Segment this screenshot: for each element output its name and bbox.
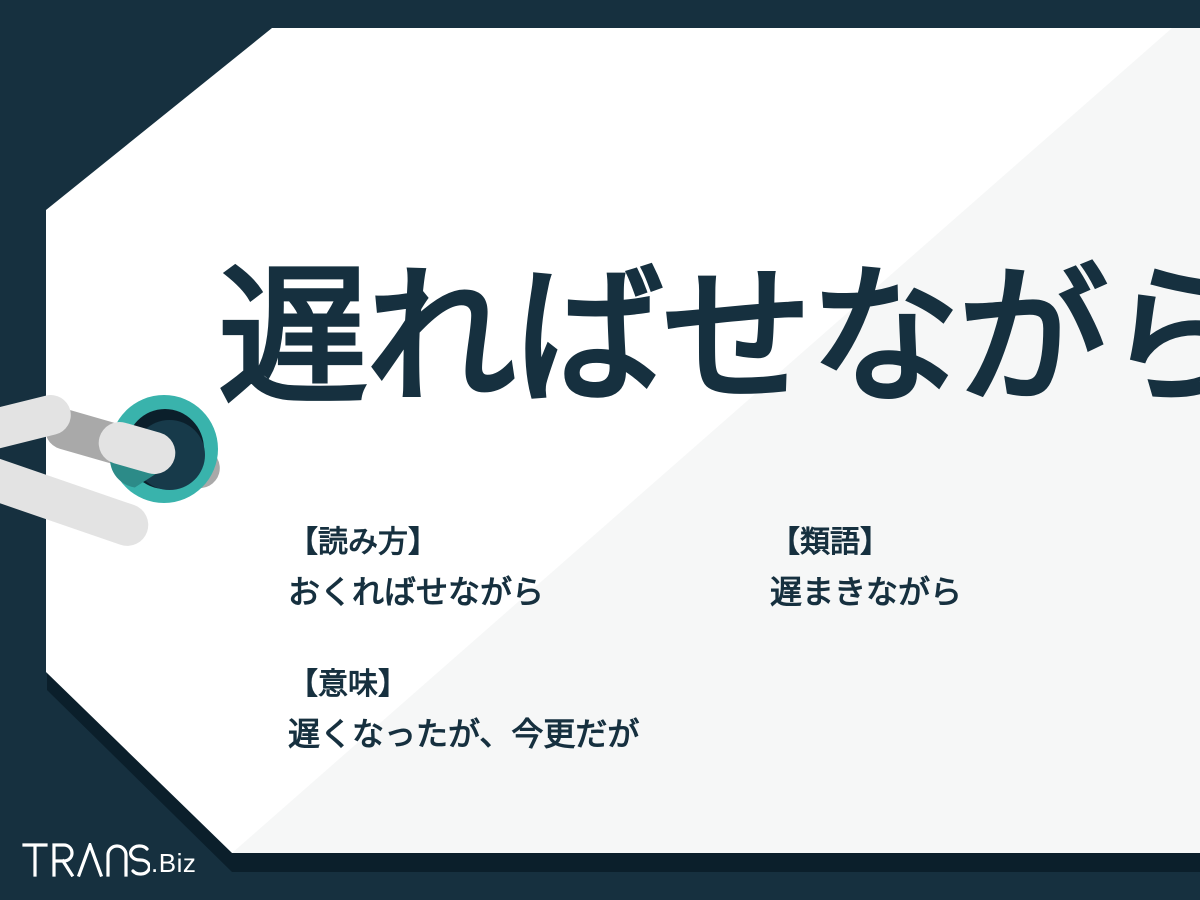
reading-label: 【読み方】 bbox=[288, 524, 544, 562]
page-title: 遅ればせながら bbox=[218, 262, 1193, 412]
reading-value: おくればせながら bbox=[288, 572, 544, 614]
detail-block-reading: 【読み方】 おくればせながら bbox=[288, 524, 544, 614]
meaning-value: 遅くなったが、今更だが bbox=[288, 714, 639, 756]
logo-suffix: .Biz bbox=[151, 850, 196, 877]
synonym-label: 【類語】 bbox=[770, 524, 962, 562]
synonym-value: 遅まきながら bbox=[770, 572, 962, 614]
meaning-label: 【意味】 bbox=[288, 666, 639, 704]
brand-logo[interactable]: .Biz bbox=[22, 843, 196, 877]
detail-block-synonym: 【類語】 遅まきながら bbox=[770, 524, 962, 614]
slide-canvas: 遅ればせながら 【読み方】 おくればせながら 【類語】 遅まきながら 【意味】 … bbox=[0, 0, 1200, 900]
detail-block-meaning: 【意味】 遅くなったが、今更だが bbox=[288, 666, 639, 756]
trans-wordmark-icon bbox=[22, 843, 150, 877]
